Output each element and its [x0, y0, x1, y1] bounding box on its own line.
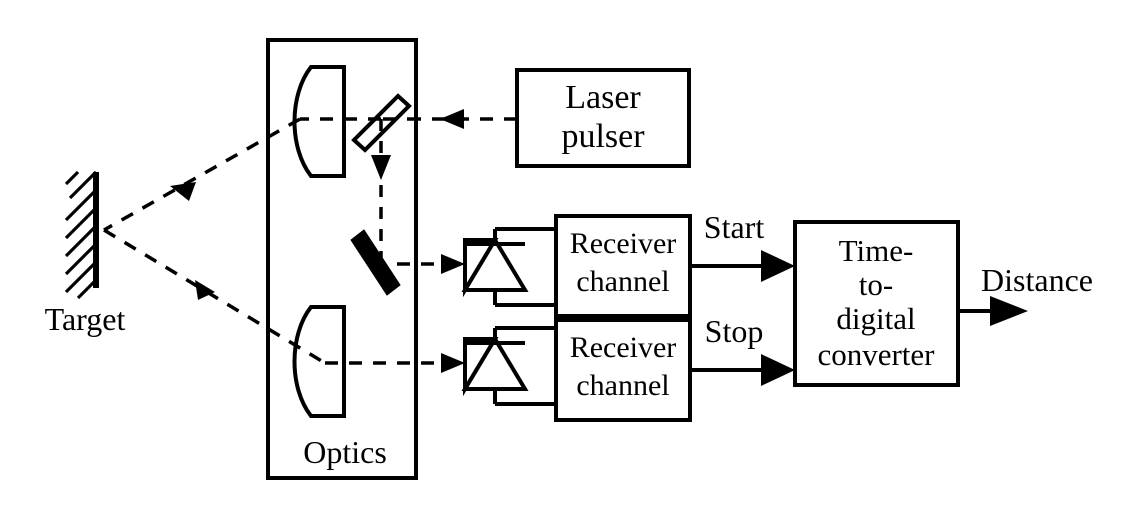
laser-pulser-label-line1: Laser — [565, 79, 641, 116]
laser-pulser-label-line2: pulser — [561, 118, 645, 155]
target-surface — [66, 172, 96, 298]
tdc-label-line4: converter — [817, 337, 935, 372]
signal-stop-to-tdc — [690, 354, 795, 386]
receiver-stop-label-line2: channel — [576, 369, 669, 402]
laser-pulser-block[interactable]: Laser pulser — [517, 70, 689, 166]
lens-top — [295, 67, 345, 176]
tdc-label-line3: digital — [836, 301, 915, 336]
photodiode-stop — [465, 328, 556, 404]
target-label: Target — [45, 301, 126, 337]
receiver-start-label-line1: Receiver — [570, 227, 677, 260]
beam-target-to-lens-bottom — [104, 230, 325, 363]
receiver-channel-stop-block[interactable]: Receiver channel — [556, 320, 690, 420]
receiver-channel-start-block[interactable]: Receiver channel — [556, 216, 690, 316]
tdc-label-line1: Time- — [839, 233, 914, 268]
time-to-digital-converter-block[interactable]: Time- to- digital converter — [795, 222, 958, 385]
distance-output-label: Distance — [981, 262, 1093, 298]
receiver-stop-label-line1: Receiver — [570, 331, 677, 364]
rangefinder-block-diagram: Target Optics — [0, 0, 1123, 527]
diagram-canvas: Target Optics — [0, 0, 1123, 527]
optics-label: Optics — [303, 434, 387, 470]
stop-signal-label: Stop — [705, 313, 764, 349]
receiver-start-label-line2: channel — [576, 265, 669, 298]
start-signal-label: Start — [704, 209, 765, 245]
tdc-label-line2: to- — [859, 267, 893, 302]
photodiode-start — [465, 229, 556, 305]
signal-tdc-to-distance — [958, 296, 1028, 326]
signal-start-to-tdc — [690, 250, 795, 282]
